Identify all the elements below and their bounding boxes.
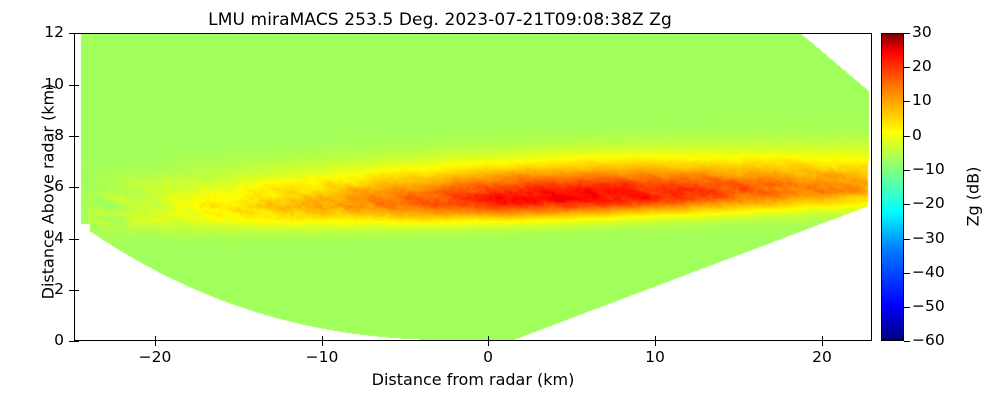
y-tick-inner <box>74 136 79 137</box>
x-tick-inner <box>488 336 489 341</box>
x-tick-label: 10 <box>615 348 695 366</box>
colorbar-tick <box>904 239 910 240</box>
colorbar-tick-label: 20 <box>912 59 932 74</box>
colorbar-tick-label: 10 <box>912 93 932 108</box>
y-axis-label: Distance Above radar (km) <box>39 42 58 342</box>
x-tick-inner <box>822 336 823 341</box>
colorbar-tick <box>904 170 910 171</box>
colorbar-tick-label: −10 <box>912 162 945 177</box>
x-tick <box>488 341 489 346</box>
x-tick <box>155 341 156 346</box>
colorbar-label: Zg (dB) <box>964 47 983 347</box>
y-tick-inner <box>74 239 79 240</box>
colorbar-tick-label: −50 <box>912 299 945 314</box>
x-tick <box>322 341 323 346</box>
y-axis-label-wrap: Distance Above radar (km) <box>0 0 66 400</box>
colorbar-tick-label: −20 <box>912 196 945 211</box>
colorbar-tick <box>904 307 910 308</box>
x-tick-inner <box>155 336 156 341</box>
x-tick-label: 20 <box>782 348 862 366</box>
plot-area <box>74 33 872 341</box>
colorbar-tick <box>904 101 910 102</box>
chart-title: LMU miraMACS 253.5 Deg. 2023-07-21T09:08… <box>0 10 880 30</box>
colorbar-tick-label: −60 <box>912 333 945 348</box>
colorbar-tick <box>904 67 910 68</box>
colorbar-tick <box>904 33 910 34</box>
x-tick <box>822 341 823 346</box>
colorbar-tick <box>904 341 910 342</box>
x-tick-label: 0 <box>448 348 528 366</box>
x-tick <box>655 341 656 346</box>
radar-reflectivity-image <box>75 34 871 340</box>
colorbar-tick <box>904 136 910 137</box>
x-tick-label: −20 <box>115 348 195 366</box>
colorbar-tick-label: 30 <box>912 25 932 40</box>
y-tick-inner <box>74 33 79 34</box>
colorbar-tick-label: −30 <box>912 231 945 246</box>
y-tick-inner <box>74 85 79 86</box>
x-tick-inner <box>655 336 656 341</box>
radar-rhi-figure: LMU miraMACS 253.5 Deg. 2023-07-21T09:08… <box>0 0 1000 400</box>
colorbar-tick <box>904 204 910 205</box>
y-tick-inner <box>74 290 79 291</box>
y-tick-inner <box>74 187 79 188</box>
y-tick-inner <box>74 341 79 342</box>
x-tick-inner <box>322 336 323 341</box>
colorbar-tick-label: 0 <box>912 128 922 143</box>
colorbar <box>881 33 904 341</box>
colorbar-tick <box>904 273 910 274</box>
x-axis-label: Distance from radar (km) <box>74 370 872 389</box>
x-tick-label: −10 <box>282 348 362 366</box>
colorbar-tick-label: −40 <box>912 265 945 280</box>
